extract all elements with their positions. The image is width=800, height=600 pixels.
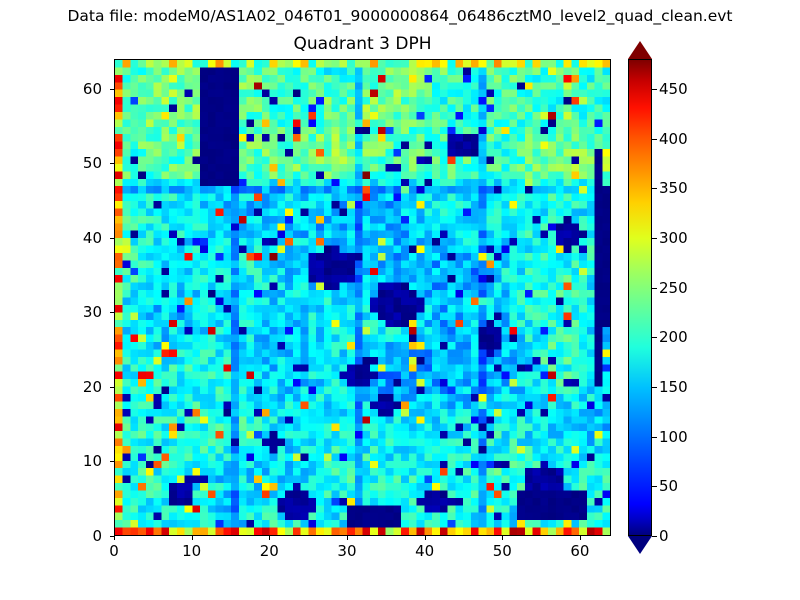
y-tick-label: 40 [42,230,102,246]
colorbar-tick-mark [652,437,657,438]
x-tick-label: 0 [84,543,144,559]
x-tick-mark [502,536,503,540]
x-tick-mark [425,536,426,540]
x-tick-mark [192,536,193,540]
y-tick-label: 0 [42,528,102,544]
colorbar-extend-max-arrow-icon [628,41,652,59]
colorbar-tick-label: 450 [659,81,688,97]
plot-title: Quadrant 3 DPH [114,33,611,55]
colorbar-tick-mark [652,486,657,487]
colorbar-tick-label: 50 [659,478,678,494]
colorbar-extend-min-arrow-icon [628,536,652,554]
x-tick-mark [347,536,348,540]
y-tick-mark [110,89,114,90]
colorbar-tick-mark [652,536,657,537]
colorbar-tick-mark [652,387,657,388]
colorbar-tick-label: 250 [659,280,688,296]
colorbar-tick-mark [652,139,657,140]
colorbar-gradient[interactable] [628,59,652,536]
colorbar-tick-label: 0 [659,528,669,544]
y-tick-mark [110,163,114,164]
y-tick-mark [110,387,114,388]
y-tick-mark [110,312,114,313]
colorbar-tick-label: 100 [659,429,688,445]
colorbar-tick-label: 300 [659,230,688,246]
x-tick-label: 40 [395,543,455,559]
x-tick-label: 10 [162,543,222,559]
colorbar-tick-mark [652,288,657,289]
heatmap-image[interactable] [115,60,610,535]
y-tick-mark [110,536,114,537]
colorbar-tick-mark [652,188,657,189]
x-tick-mark [114,536,115,540]
colorbar-tick-label: 400 [659,131,688,147]
x-tick-label: 50 [472,543,532,559]
colorbar[interactable] [628,59,652,536]
figure-canvas: Data file: modeM0/AS1A02_046T01_90000008… [0,0,800,600]
colorbar-tick-label: 350 [659,180,688,196]
y-tick-mark [110,238,114,239]
colorbar-tick-label: 150 [659,379,688,395]
colorbar-tick-label: 200 [659,329,688,345]
x-tick-label: 60 [550,543,610,559]
colorbar-tick-mark [652,337,657,338]
y-tick-label: 10 [42,453,102,469]
y-tick-mark [110,461,114,462]
y-tick-label: 50 [42,155,102,171]
colorbar-tick-mark [652,89,657,90]
x-tick-label: 30 [317,543,377,559]
data-file-suptitle: Data file: modeM0/AS1A02_046T01_90000008… [0,6,800,26]
y-tick-label: 30 [42,304,102,320]
heatmap-axes[interactable] [114,59,611,536]
y-tick-label: 20 [42,379,102,395]
x-tick-label: 20 [239,543,299,559]
colorbar-tick-mark [652,238,657,239]
y-tick-label: 60 [42,81,102,97]
x-tick-mark [269,536,270,540]
x-tick-mark [580,536,581,540]
